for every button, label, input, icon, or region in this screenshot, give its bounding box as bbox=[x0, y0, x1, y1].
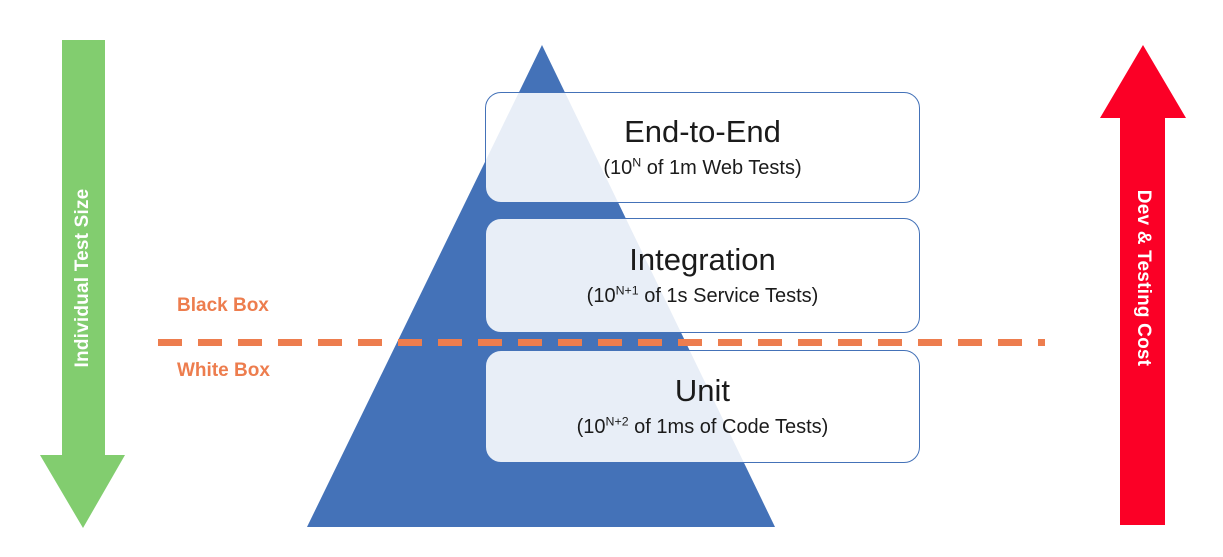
left-axis-label: Individual Test Size bbox=[72, 189, 94, 368]
layer-sub-prefix: (10 bbox=[587, 285, 616, 307]
layer-title: Integration bbox=[629, 244, 776, 277]
layer-title: End-to-End bbox=[624, 116, 781, 149]
black-box-label: Black Box bbox=[177, 295, 269, 317]
black-white-box-divider bbox=[158, 339, 1045, 346]
layer-box-integration[interactable]: Integration (10N+1 of 1s Service Tests) bbox=[485, 218, 920, 333]
right-axis-label: Dev & Testing Cost bbox=[1132, 190, 1154, 366]
layer-sub-suffix: of 1m Web Tests) bbox=[641, 157, 801, 179]
layer-sub-exponent: N bbox=[632, 155, 641, 169]
layer-sub-prefix: (10 bbox=[577, 416, 606, 438]
layer-sub-exponent: N+1 bbox=[616, 283, 639, 297]
white-box-label: White Box bbox=[177, 360, 270, 382]
layer-subtitle: (10N of 1m Web Tests) bbox=[603, 157, 801, 179]
layer-box-end-to-end[interactable]: End-to-End (10N of 1m Web Tests) bbox=[485, 92, 920, 203]
layer-sub-suffix: of 1s Service Tests) bbox=[639, 285, 819, 307]
test-pyramid-diagram: Individual Test Size Dev & Testing Cost … bbox=[0, 0, 1223, 557]
layer-sub-suffix: of 1ms of Code Tests) bbox=[629, 416, 829, 438]
layer-sub-prefix: (10 bbox=[603, 157, 632, 179]
layer-title: Unit bbox=[675, 375, 730, 408]
layer-box-unit[interactable]: Unit (10N+2 of 1ms of Code Tests) bbox=[485, 350, 920, 463]
layer-sub-exponent: N+2 bbox=[606, 414, 629, 428]
layer-subtitle: (10N+2 of 1ms of Code Tests) bbox=[577, 416, 829, 438]
layer-subtitle: (10N+1 of 1s Service Tests) bbox=[587, 285, 819, 307]
